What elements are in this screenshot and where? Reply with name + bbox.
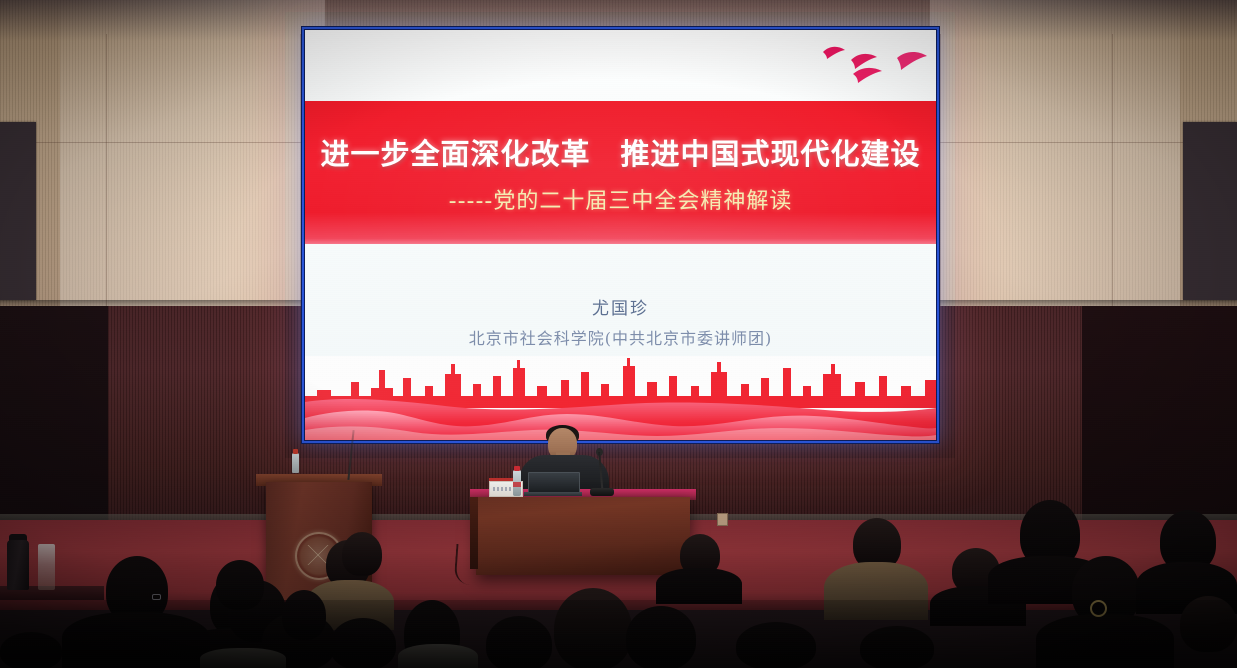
city-skyline-silhouette <box>305 358 936 408</box>
wall-seam <box>106 34 107 306</box>
audience-head <box>330 618 396 668</box>
projection-screen-frame: 进一步全面深化改革 推进中国式现代化建设 -----党的二十届三中全会精神解读 … <box>301 26 940 444</box>
laptop-base <box>524 492 582 496</box>
audience-shoulders <box>200 648 286 668</box>
water-bottle <box>513 470 521 496</box>
audience-head <box>554 588 632 668</box>
audience-head <box>860 626 934 668</box>
flying-doves-icon <box>815 38 935 90</box>
speaker-name: 尤国珍 <box>592 294 649 319</box>
audience-head <box>0 632 62 668</box>
audience-shoulders <box>824 562 928 620</box>
wall-seam <box>940 34 941 306</box>
audience-head <box>1180 596 1237 652</box>
slide-top-band <box>305 30 936 101</box>
audience-head <box>486 616 552 668</box>
speaker-desk <box>476 497 690 575</box>
floor-cable <box>454 544 489 586</box>
lecture-hall-photo: 进一步全面深化改革 推进中国式现代化建设 -----党的二十届三中全会精神解读 … <box>0 0 1237 668</box>
wall-seam <box>0 142 320 143</box>
wall-seam <box>1112 34 1113 306</box>
audience-shoulders <box>62 612 210 668</box>
audience-shoulders <box>1036 614 1174 668</box>
acoustic-panel-right <box>1183 122 1237 300</box>
slide-title-banner: 进一步全面深化改革 推进中国式现代化建设 -----党的二十届三中全会精神解读 <box>305 101 936 244</box>
skyline-and-clouds-graphic <box>305 356 936 440</box>
audience-shoulders <box>398 644 478 668</box>
audience-shoulders <box>656 568 742 604</box>
slide-bottom-graphic <box>305 356 936 440</box>
wainscot-shadow-right <box>1082 306 1237 536</box>
slide-speaker-block: 尤国珍 北京市社会科学院(中共北京市委讲师团) <box>305 244 936 356</box>
audience-head <box>342 532 382 576</box>
drinking-glass <box>38 544 55 590</box>
audience-glasses-icon <box>152 594 161 600</box>
audience-head <box>626 606 696 668</box>
microphone-base <box>590 488 614 496</box>
slide-subtitle: -----党的二十届三中全会精神解读 <box>449 183 793 215</box>
cap-logo-icon <box>1090 600 1107 617</box>
audience-head <box>282 590 326 640</box>
lectern-water-bottle <box>292 453 299 473</box>
audience-head <box>216 560 264 610</box>
audience-head <box>736 622 816 668</box>
slide-title: 进一步全面深化改革 推进中国式现代化建设 <box>320 131 920 173</box>
wainscot-shadow-left <box>0 306 108 536</box>
acoustic-panel-left <box>0 122 36 300</box>
thermos-flask <box>7 540 29 590</box>
speaker-organization: 北京市社会科学院(中共北京市委讲师团) <box>469 325 773 349</box>
projection-screen: 进一步全面深化改革 推进中国式现代化建设 -----党的二十届三中全会精神解读 … <box>305 30 936 440</box>
wall-outlet-icon <box>717 513 728 526</box>
